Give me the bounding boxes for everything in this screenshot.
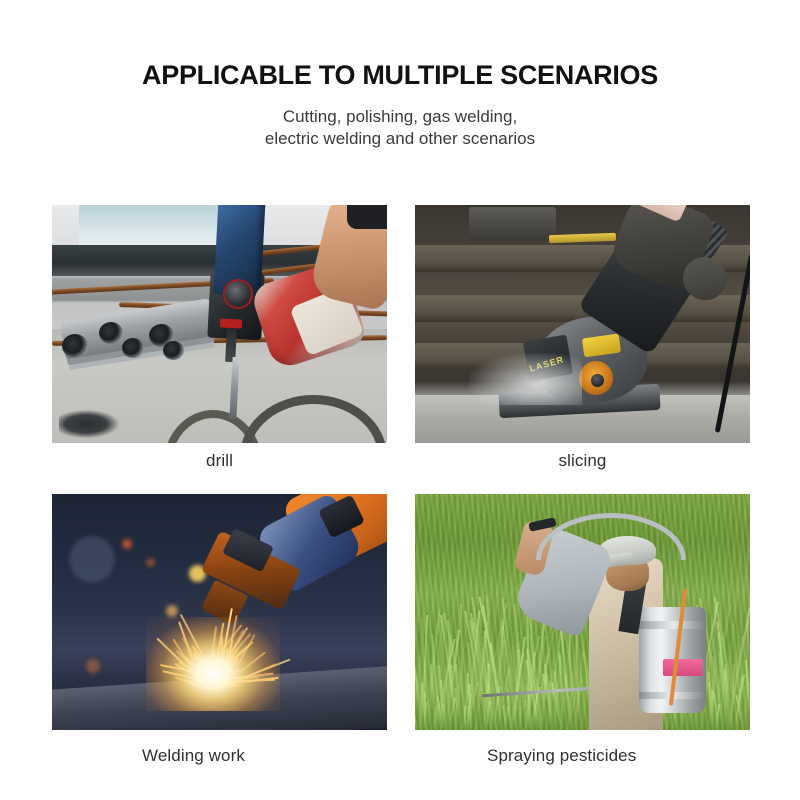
scenario-card-spraying[interactable]: Spraying pesticides bbox=[415, 494, 750, 766]
tank-band bbox=[639, 621, 706, 628]
debris bbox=[59, 410, 119, 439]
scenario-caption-welding: Welding work bbox=[52, 730, 387, 766]
scenario-caption-slicing: slicing bbox=[415, 443, 750, 471]
background-bokeh bbox=[146, 558, 155, 567]
scenario-image-spraying bbox=[415, 494, 750, 730]
drill-mode-selector bbox=[223, 279, 253, 309]
subtitle-line-2: electric welding and other scenarios bbox=[0, 128, 800, 150]
background-tool bbox=[549, 232, 616, 243]
worker-sleeve bbox=[347, 205, 387, 229]
scenario-showcase-page: APPLICABLE TO MULTIPLE SCENARIOS Cutting… bbox=[0, 0, 800, 800]
background-window bbox=[79, 205, 233, 250]
page-header: APPLICABLE TO MULTIPLE SCENARIOS Cutting… bbox=[0, 58, 800, 150]
drill-trigger bbox=[219, 319, 241, 329]
scenario-image-drill bbox=[52, 205, 387, 443]
pipe-opening bbox=[163, 341, 184, 360]
pipe-opening bbox=[99, 322, 123, 344]
scenario-caption-drill: drill bbox=[52, 443, 387, 471]
saw-arbor-bolt bbox=[591, 374, 604, 387]
page-subtitle: Cutting, polishing, gas welding, electri… bbox=[0, 92, 800, 150]
background-bokeh bbox=[86, 659, 100, 673]
scenario-caption-spraying: Spraying pesticides bbox=[415, 730, 750, 766]
scenario-image-slicing: LASER bbox=[415, 205, 750, 443]
scenario-card-slicing[interactable]: LASER slicing bbox=[415, 205, 750, 471]
background-bokeh bbox=[166, 605, 178, 617]
scenario-card-drill[interactable]: drill bbox=[52, 205, 387, 471]
pipe-opening bbox=[62, 334, 88, 358]
scenario-image-welding bbox=[52, 494, 387, 730]
tank-label bbox=[663, 659, 703, 676]
weld-flash bbox=[146, 617, 280, 711]
page-title: APPLICABLE TO MULTIPLE SCENARIOS bbox=[0, 58, 800, 92]
background-bokeh bbox=[122, 539, 132, 549]
background-toolbox bbox=[469, 207, 556, 240]
scenario-card-welding[interactable]: Welding work bbox=[52, 494, 387, 766]
scenario-grid: drill LASER bbox=[52, 205, 750, 765]
subtitle-line-1: Cutting, polishing, gas welding, bbox=[0, 106, 800, 128]
background-bokeh bbox=[69, 536, 115, 582]
cutting-dust bbox=[469, 353, 583, 405]
